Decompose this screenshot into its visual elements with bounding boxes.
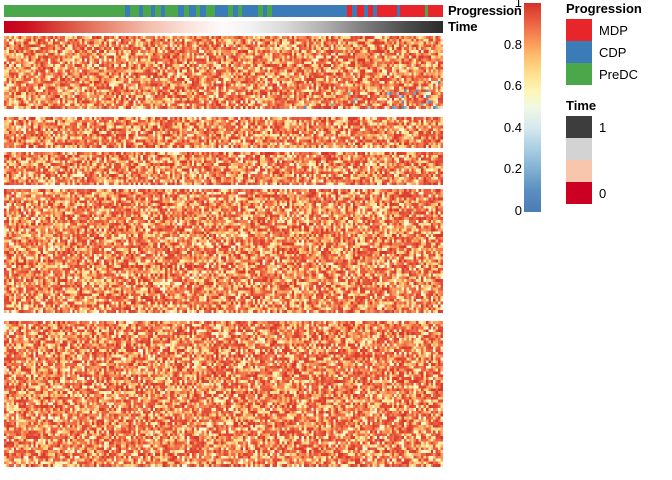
expression-colorbar <box>524 3 541 212</box>
progression-legend-title: Progression <box>566 2 642 16</box>
legend-label-cdp: CDP <box>599 46 626 59</box>
legend-label-predc: PreDC <box>599 68 638 81</box>
heatmap-block-4 <box>4 189 443 313</box>
mdp-color-swatch <box>566 19 592 41</box>
heatmap-block-2 <box>4 117 443 148</box>
time-annotation-label: Time <box>448 21 477 33</box>
colorbar-tick-1: 1 <box>515 0 522 9</box>
block-4-canvas <box>4 189 443 313</box>
time-swatch-3 <box>566 182 592 204</box>
time-swatch-2 <box>566 160 592 182</box>
legend-item-cdp[interactable]: CDP <box>566 41 642 63</box>
progression-annotation-bar <box>4 5 443 17</box>
time-swatch-0 <box>566 116 592 138</box>
time-legend-label-3: 0 <box>599 187 606 200</box>
time-legend-block-3: 0 <box>566 182 606 204</box>
legend-item-predc[interactable]: PreDC <box>566 63 642 85</box>
legend-item-mdp[interactable]: MDP <box>566 19 642 41</box>
colorbar-tick-0p8: 0.8 <box>504 38 522 51</box>
block-5-canvas <box>4 321 443 467</box>
block-3-canvas <box>4 152 443 185</box>
block-2-canvas <box>4 117 443 148</box>
heatmap-block-5 <box>4 321 443 467</box>
colorbar-tick-0: 0 <box>515 204 522 217</box>
time-legend: Time 10 <box>566 99 606 204</box>
colorbar-tick-0p4: 0.4 <box>504 121 522 134</box>
time-annotation-bar <box>4 21 443 33</box>
time-legend-block-2 <box>566 160 606 182</box>
time-legend-block-0: 1 <box>566 116 606 138</box>
time-legend-title: Time <box>566 99 606 113</box>
block-1-canvas <box>4 36 443 109</box>
time-swatch-1 <box>566 138 592 160</box>
time-legend-label-0: 1 <box>599 121 606 134</box>
progression-legend: Progression MDP CDP PreDC <box>566 2 642 85</box>
legend-label-mdp: MDP <box>599 24 628 37</box>
time-legend-gradient: 10 <box>566 116 606 204</box>
heatmap-block-1 <box>4 36 443 109</box>
cdp-color-swatch <box>566 41 592 63</box>
colorbar-tick-labels: 10.80.60.40.20 <box>494 0 522 215</box>
heatmap-figure: Progression Time 10.80.60.40.20 Progress… <box>0 0 672 480</box>
heatmap-block-3 <box>4 152 443 185</box>
colorbar-tick-0p2: 0.2 <box>504 162 522 175</box>
predc-color-swatch <box>566 63 592 85</box>
time-legend-block-1 <box>566 138 606 160</box>
colorbar-tick-0p6: 0.6 <box>504 79 522 92</box>
